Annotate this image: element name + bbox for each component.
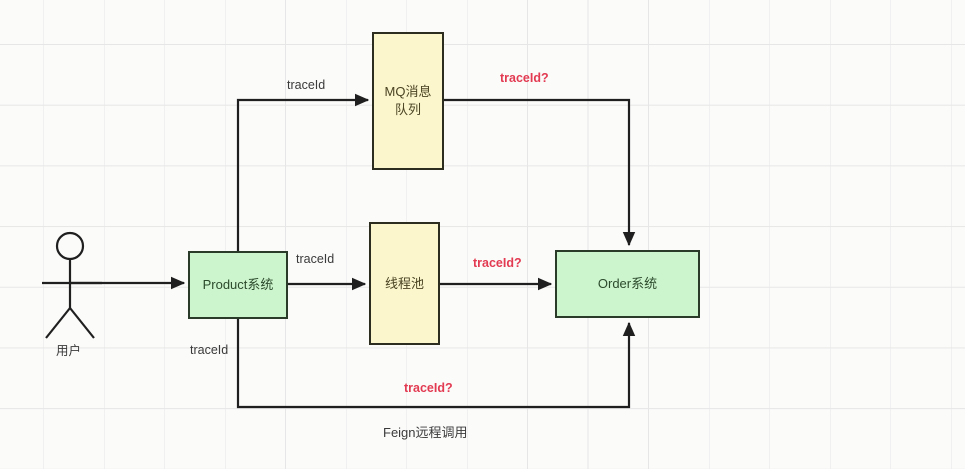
user-actor-label: 用户 xyxy=(56,340,81,359)
user-actor-figure xyxy=(42,233,102,338)
edge-mq-to-order xyxy=(444,100,629,245)
node-order-system[interactable]: Order系统 xyxy=(555,250,700,318)
edge-layer xyxy=(0,0,965,469)
node-label: Order系统 xyxy=(598,275,657,293)
edge-label-product-to-mq: traceId xyxy=(287,78,325,92)
edge-label-product-down: traceId xyxy=(190,343,228,357)
edge-product-to-mq xyxy=(238,100,368,251)
edge-label-pool-to-order: traceId? xyxy=(473,256,522,270)
feign-caption: Feign远程调用 xyxy=(383,422,468,441)
node-thread-pool[interactable]: 线程池 xyxy=(369,222,440,345)
edge-label-mq-to-order: traceId? xyxy=(500,71,549,85)
diagram-canvas: Product系统 MQ消息 队列 线程池 Order系统 用户 traceId… xyxy=(0,0,965,469)
node-mq-queue[interactable]: MQ消息 队列 xyxy=(372,32,444,170)
node-label: Product系统 xyxy=(203,276,274,294)
edge-label-feign-to-order: traceId? xyxy=(404,381,453,395)
node-label: 线程池 xyxy=(385,275,424,293)
edge-label-product-to-pool: traceId xyxy=(296,252,334,266)
node-label: MQ消息 队列 xyxy=(385,83,432,118)
node-product-system[interactable]: Product系统 xyxy=(188,251,288,319)
